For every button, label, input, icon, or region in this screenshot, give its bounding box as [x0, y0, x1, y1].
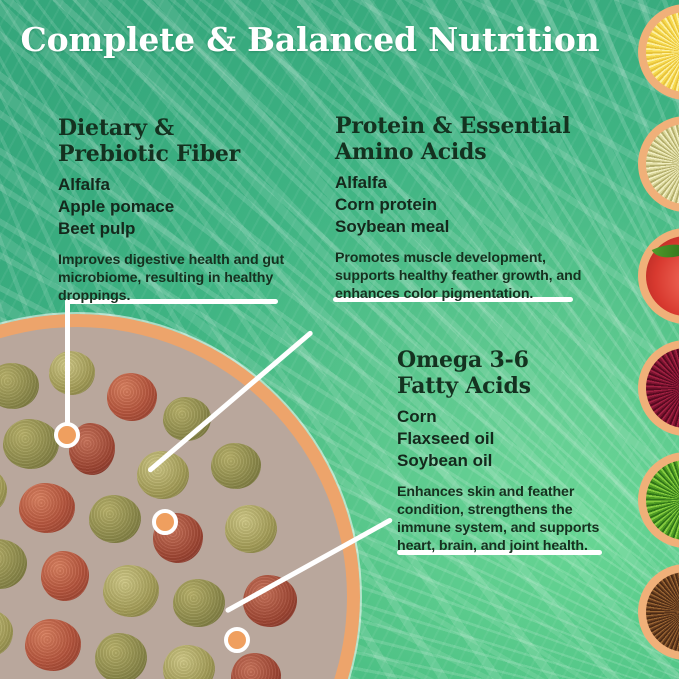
- ingredient-item: Alfalfa: [335, 172, 587, 194]
- pet-food-bowl-photo: [0, 314, 360, 679]
- block-description: Promotes muscle development, supports he…: [335, 249, 587, 303]
- block-dietary-prebiotic-fiber: Dietary & Prebiotic Fiber Alfalfa Apple …: [58, 116, 298, 305]
- heading-line-2: Fatty Acids: [397, 373, 531, 399]
- ingredient-item: Alfalfa: [58, 174, 298, 196]
- block-description: Improves digestive health and gut microb…: [58, 251, 298, 305]
- block-omega-fatty-acids: Omega 3-6 Fatty Acids Corn Flaxseed oil …: [397, 348, 615, 555]
- infographic-canvas: Complete & Balanced Nutrition: [0, 0, 679, 679]
- block-heading: Dietary & Prebiotic Fiber: [58, 116, 298, 167]
- alfalfa-meal-texture: [646, 124, 679, 204]
- ingredient-item: Flaxseed oil: [397, 428, 615, 450]
- bowl-contents: [0, 327, 347, 679]
- heading-line-2: Amino Acids: [335, 139, 486, 165]
- hotspot-dot-fiber[interactable]: [54, 422, 80, 448]
- ingredient-list: Alfalfa Apple pomace Beet pulp: [58, 174, 298, 239]
- ingredient-item: Corn protein: [335, 194, 587, 216]
- block-protein-amino-acids: Protein & Essential Amino Acids Alfalfa …: [335, 114, 587, 303]
- block-heading: Omega 3-6 Fatty Acids: [397, 348, 615, 399]
- beet-pulp-texture: [646, 348, 679, 428]
- ingredient-list: Corn Flaxseed oil Soybean oil: [397, 406, 615, 471]
- page-title: Complete & Balanced Nutrition: [0, 20, 620, 59]
- heading-line-1: Dietary &: [58, 115, 174, 141]
- ingredient-list: Alfalfa Corn protein Soybean meal: [335, 172, 587, 237]
- block-description: Enhances skin and feather condition, str…: [397, 483, 615, 555]
- flaxseed-texture: [646, 572, 679, 652]
- heading-line-2: Prebiotic Fiber: [58, 141, 240, 167]
- hotspot-dot-protein[interactable]: [152, 509, 178, 535]
- block-heading: Protein & Essential Amino Acids: [335, 114, 587, 165]
- ingredient-item: Soybean oil: [397, 450, 615, 472]
- greens-texture: [646, 460, 679, 540]
- heading-line-1: Protein & Essential: [335, 113, 570, 139]
- ingredient-item: Soybean meal: [335, 216, 587, 238]
- corn-kernels-texture: [646, 12, 679, 92]
- ingredient-item: Corn: [397, 406, 615, 428]
- hotspot-dot-omega[interactable]: [224, 627, 250, 653]
- heading-line-1: Omega 3-6: [397, 347, 529, 373]
- ingredient-item: Beet pulp: [58, 218, 298, 240]
- ingredient-item: Apple pomace: [58, 196, 298, 218]
